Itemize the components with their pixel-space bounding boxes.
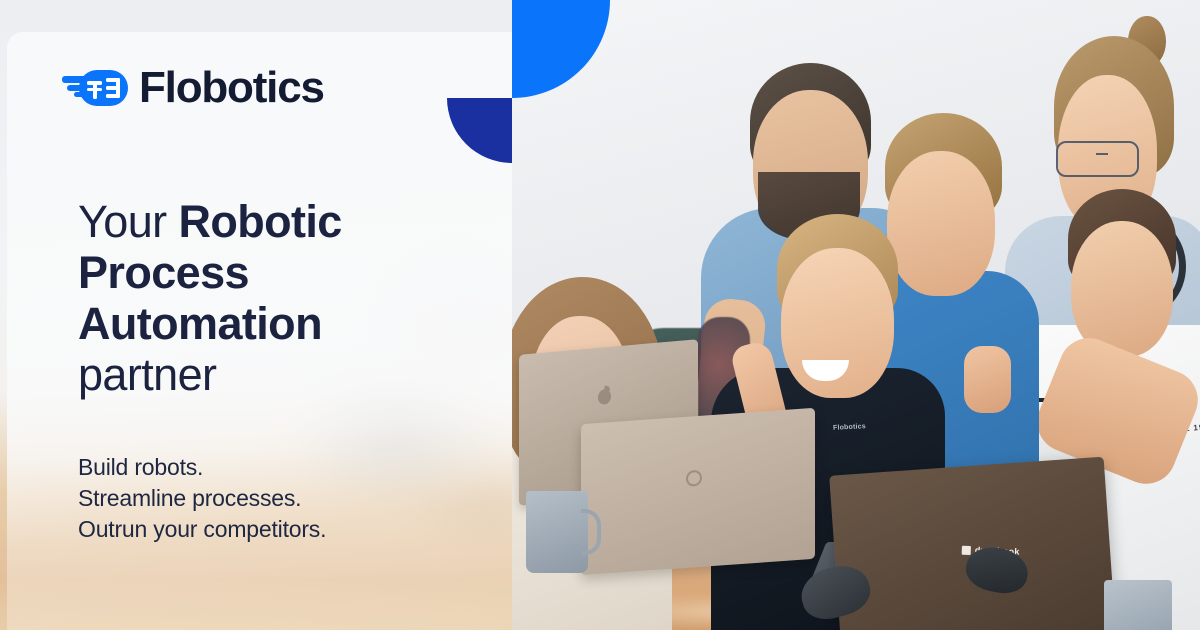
page-title: Your Robotic Process Automation partner: [78, 196, 448, 400]
flobotics-logo[interactable]: Flobotics: [62, 66, 324, 110]
headline-trail: partner: [78, 349, 216, 400]
headline-lead: Your: [78, 196, 178, 247]
left-content-panel: Flobotics Your Robotic Process Automatio…: [0, 0, 512, 630]
tagline: Build robots. Streamline processes. Outr…: [78, 452, 458, 545]
brand-wordmark: Flobotics: [139, 66, 324, 110]
apple-logo-icon: [598, 389, 611, 405]
dynabook-mark-icon: [962, 546, 971, 555]
team-photo: PERSONAL 1967 Flobotics: [512, 0, 1200, 630]
dell-laptop: [581, 408, 815, 576]
tagline-line-2: Streamline processes.: [78, 483, 458, 514]
tagline-line-1: Build robots.: [78, 452, 458, 483]
coffee-mug-secondary: [1104, 580, 1173, 630]
flobotics-logo-mark-icon: [62, 67, 128, 109]
fb-monogram-icon: [87, 78, 121, 99]
marketing-banner: PERSONAL 1967 Flobotics: [0, 0, 1200, 630]
dynabook-laptop: dynabook: [830, 457, 1117, 630]
coffee-mug: [526, 491, 588, 573]
tagline-line-3: Outrun your competitors.: [78, 514, 458, 545]
